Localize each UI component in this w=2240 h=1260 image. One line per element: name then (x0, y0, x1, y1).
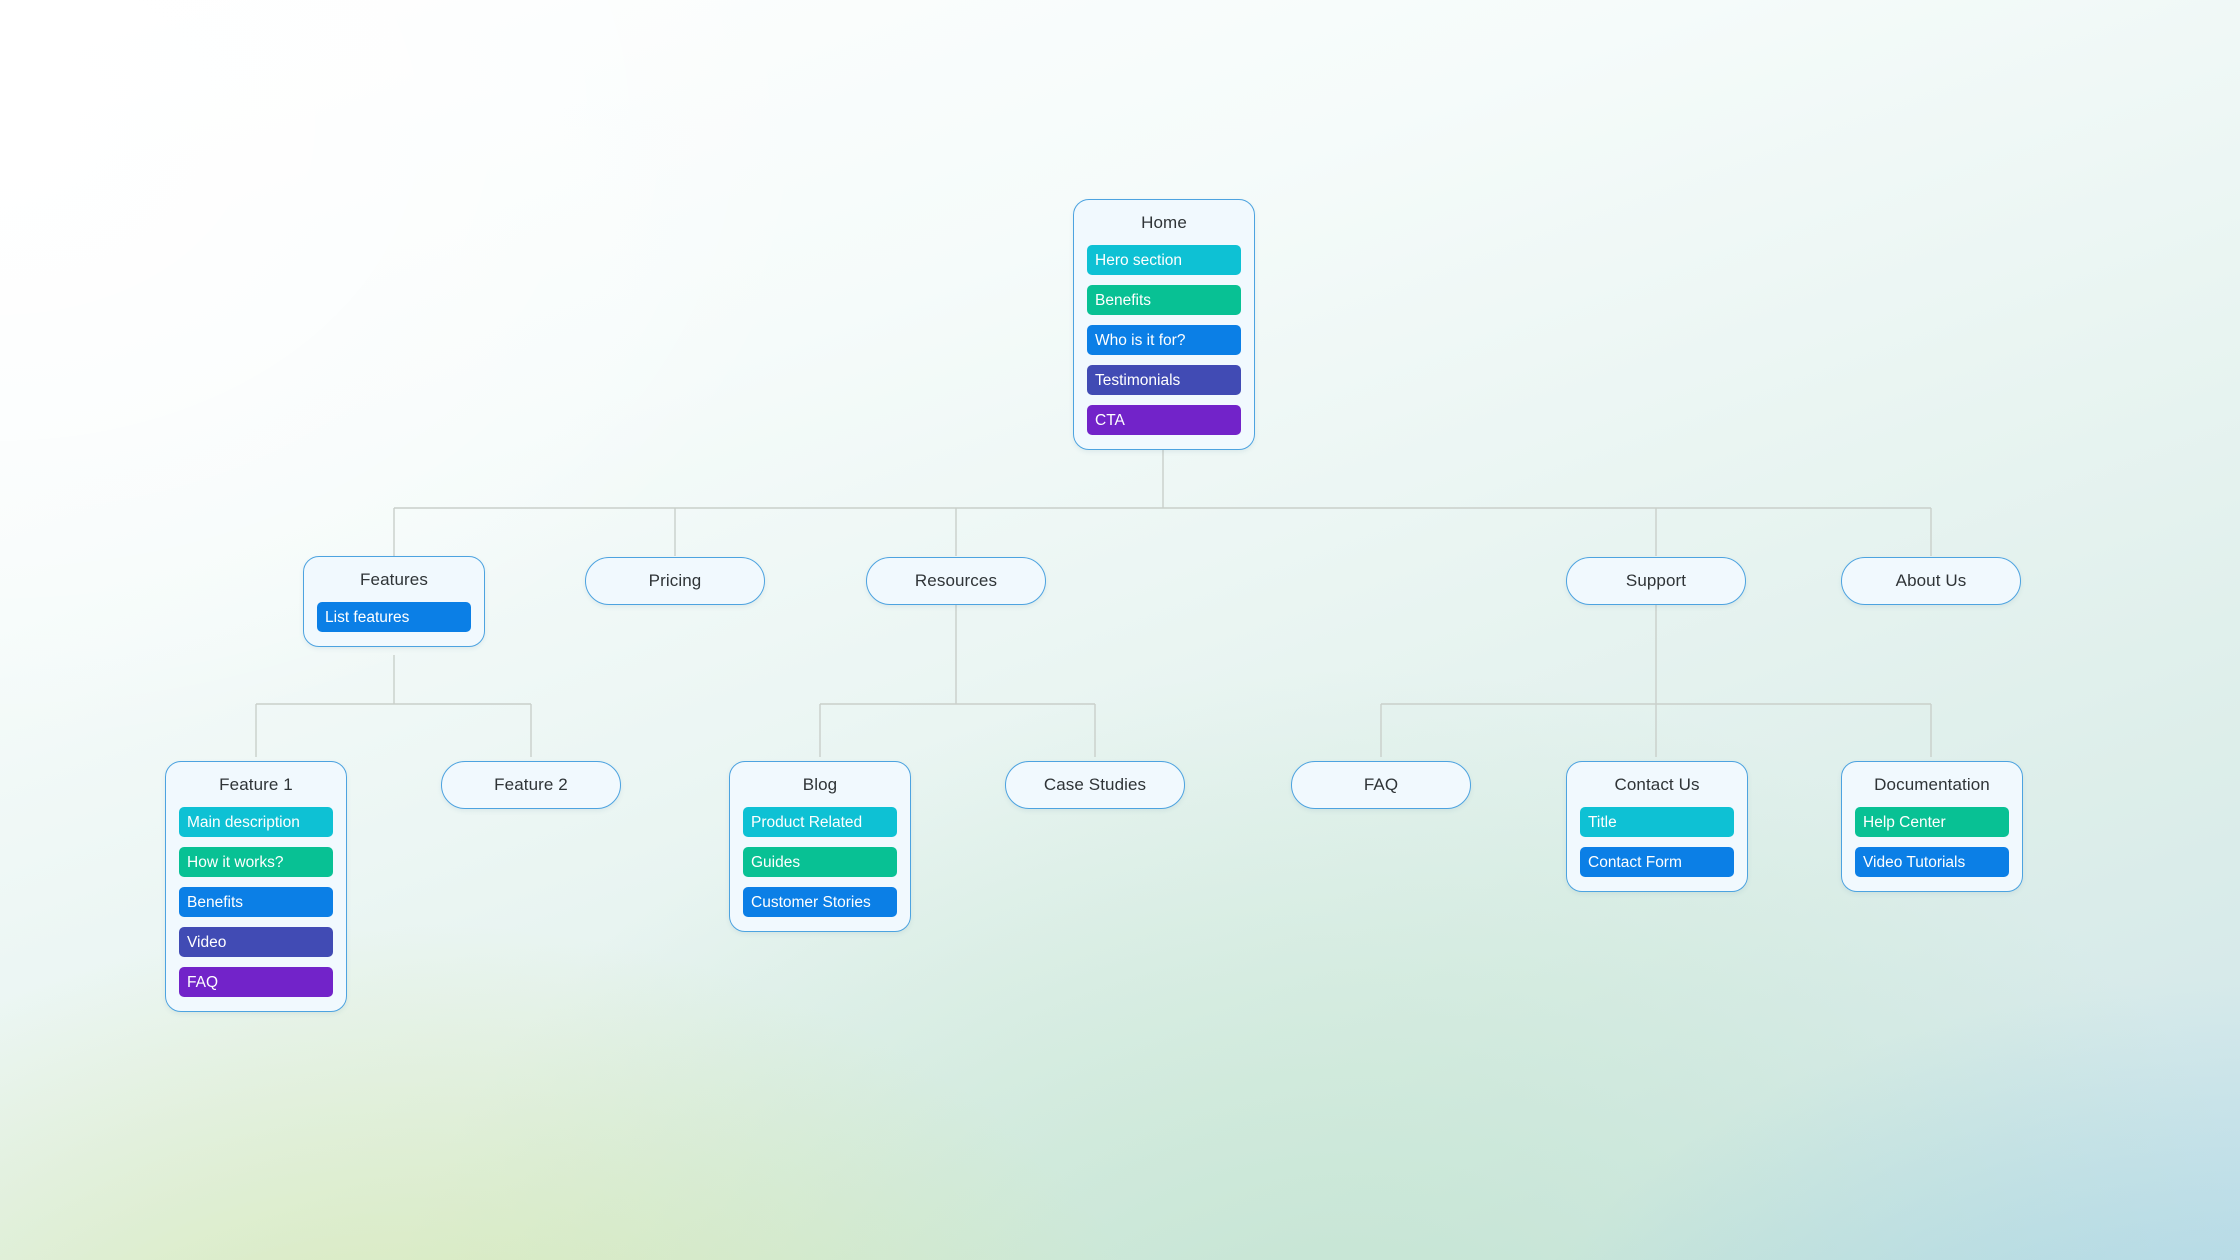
node-title-home: Home (1087, 213, 1241, 233)
section-product-related[interactable]: Product Related (743, 807, 897, 837)
section-testimonials[interactable]: Testimonials (1087, 365, 1241, 395)
node-faq[interactable]: FAQ (1291, 761, 1471, 809)
node-features[interactable]: Features List features (303, 556, 485, 647)
node-title-support: Support (1626, 571, 1686, 591)
node-title-documentation: Documentation (1855, 775, 2009, 795)
node-title-feature-1: Feature 1 (179, 775, 333, 795)
section-faq[interactable]: FAQ (179, 967, 333, 997)
section-benefits[interactable]: Benefits (1087, 285, 1241, 315)
section-who-is-it-for[interactable]: Who is it for? (1087, 325, 1241, 355)
section-how-it-works[interactable]: How it works? (179, 847, 333, 877)
node-feature-2[interactable]: Feature 2 (441, 761, 621, 809)
node-documentation[interactable]: Documentation Help Center Video Tutorial… (1841, 761, 2023, 892)
node-contact-us[interactable]: Contact Us Title Contact Form (1566, 761, 1748, 892)
node-title-pricing: Pricing (649, 571, 702, 591)
node-resources[interactable]: Resources (866, 557, 1046, 605)
node-sections-contact-us: Title Contact Form (1580, 807, 1734, 877)
node-about-us[interactable]: About Us (1841, 557, 2021, 605)
node-sections-features: List features (317, 602, 471, 632)
section-guides[interactable]: Guides (743, 847, 897, 877)
node-sections-home: Hero section Benefits Who is it for? Tes… (1087, 245, 1241, 435)
node-sections-blog: Product Related Guides Customer Stories (743, 807, 897, 917)
section-title[interactable]: Title (1580, 807, 1734, 837)
section-cta[interactable]: CTA (1087, 405, 1241, 435)
section-main-description[interactable]: Main description (179, 807, 333, 837)
sitemap-canvas[interactable]: Home Hero section Benefits Who is it for… (0, 0, 2240, 1260)
section-video[interactable]: Video (179, 927, 333, 957)
node-title-blog: Blog (743, 775, 897, 795)
node-title-contact-us: Contact Us (1580, 775, 1734, 795)
section-customer-stories[interactable]: Customer Stories (743, 887, 897, 917)
section-list-features[interactable]: List features (317, 602, 471, 632)
node-feature-1[interactable]: Feature 1 Main description How it works?… (165, 761, 347, 1012)
node-pricing[interactable]: Pricing (585, 557, 765, 605)
node-title-about-us: About Us (1896, 571, 1967, 591)
section-help-center[interactable]: Help Center (1855, 807, 2009, 837)
node-sections-feature-1: Main description How it works? Benefits … (179, 807, 333, 997)
node-title-case-studies: Case Studies (1044, 775, 1146, 795)
node-sections-documentation: Help Center Video Tutorials (1855, 807, 2009, 877)
node-title-resources: Resources (915, 571, 997, 591)
node-home[interactable]: Home Hero section Benefits Who is it for… (1073, 199, 1255, 450)
node-blog[interactable]: Blog Product Related Guides Customer Sto… (729, 761, 911, 932)
node-support[interactable]: Support (1566, 557, 1746, 605)
section-benefits[interactable]: Benefits (179, 887, 333, 917)
section-video-tutorials[interactable]: Video Tutorials (1855, 847, 2009, 877)
section-contact-form[interactable]: Contact Form (1580, 847, 1734, 877)
section-hero-section[interactable]: Hero section (1087, 245, 1241, 275)
node-case-studies[interactable]: Case Studies (1005, 761, 1185, 809)
node-title-features: Features (317, 570, 471, 590)
node-title-feature-2: Feature 2 (494, 775, 568, 795)
node-title-faq: FAQ (1364, 775, 1398, 795)
